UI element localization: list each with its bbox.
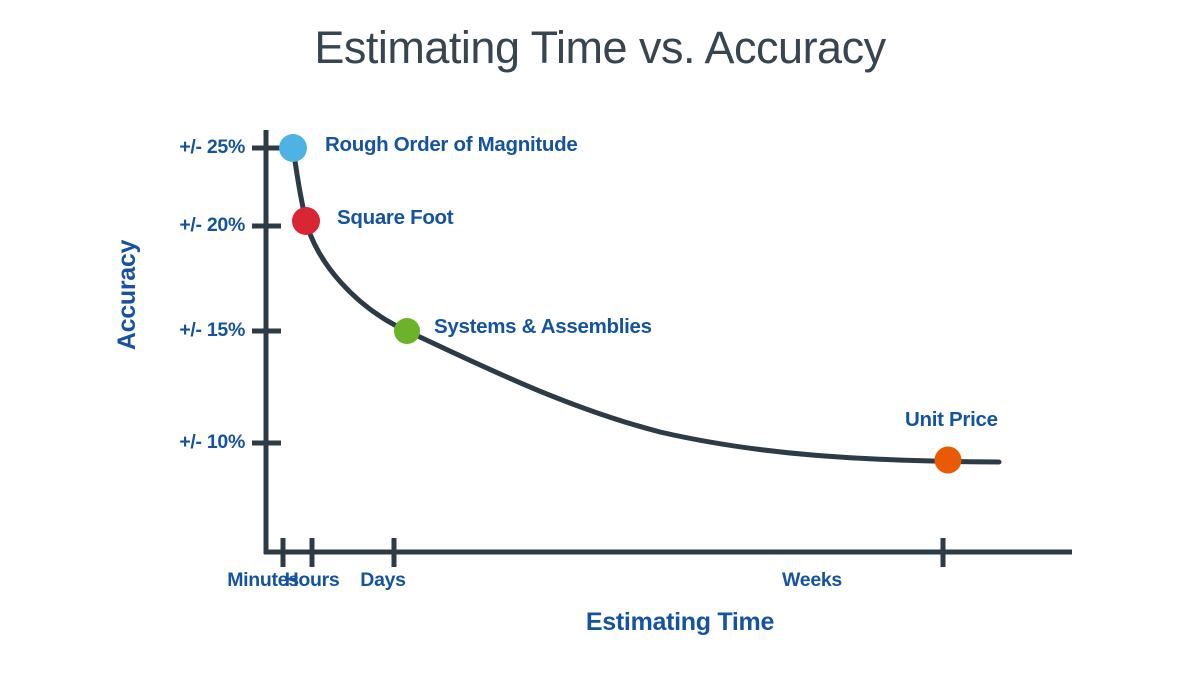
data-point-square-foot[interactable]: [292, 207, 320, 235]
point-label-unit-price: Unit Price: [905, 408, 998, 432]
x-tick-label-days: Days: [347, 569, 419, 592]
chart-canvas: Estimating Time vs. Accuracy +/- 25% +/-…: [0, 0, 1200, 675]
accuracy-curve: [292, 141, 999, 462]
x-axis-title: Estimating Time: [400, 608, 960, 637]
data-point-rough-order-of-magnitude[interactable]: [279, 134, 307, 162]
point-label-systems-and-assemblies: Systems & Assemblies: [434, 315, 652, 339]
x-tick-label-hours: Hours: [272, 569, 352, 592]
y-tick-label-25: +/- 25%: [120, 136, 245, 159]
data-point-systems-and-assemblies[interactable]: [394, 318, 420, 344]
data-point-unit-price[interactable]: [935, 447, 962, 474]
x-tick-label-weeks: Weeks: [766, 569, 858, 592]
y-tick-label-10: +/- 10%: [120, 431, 245, 454]
point-label-square-foot: Square Foot: [337, 206, 453, 230]
y-axis-title: Accuracy: [113, 225, 143, 365]
point-label-rough-order-of-magnitude: Rough Order of Magnitude: [325, 133, 577, 157]
